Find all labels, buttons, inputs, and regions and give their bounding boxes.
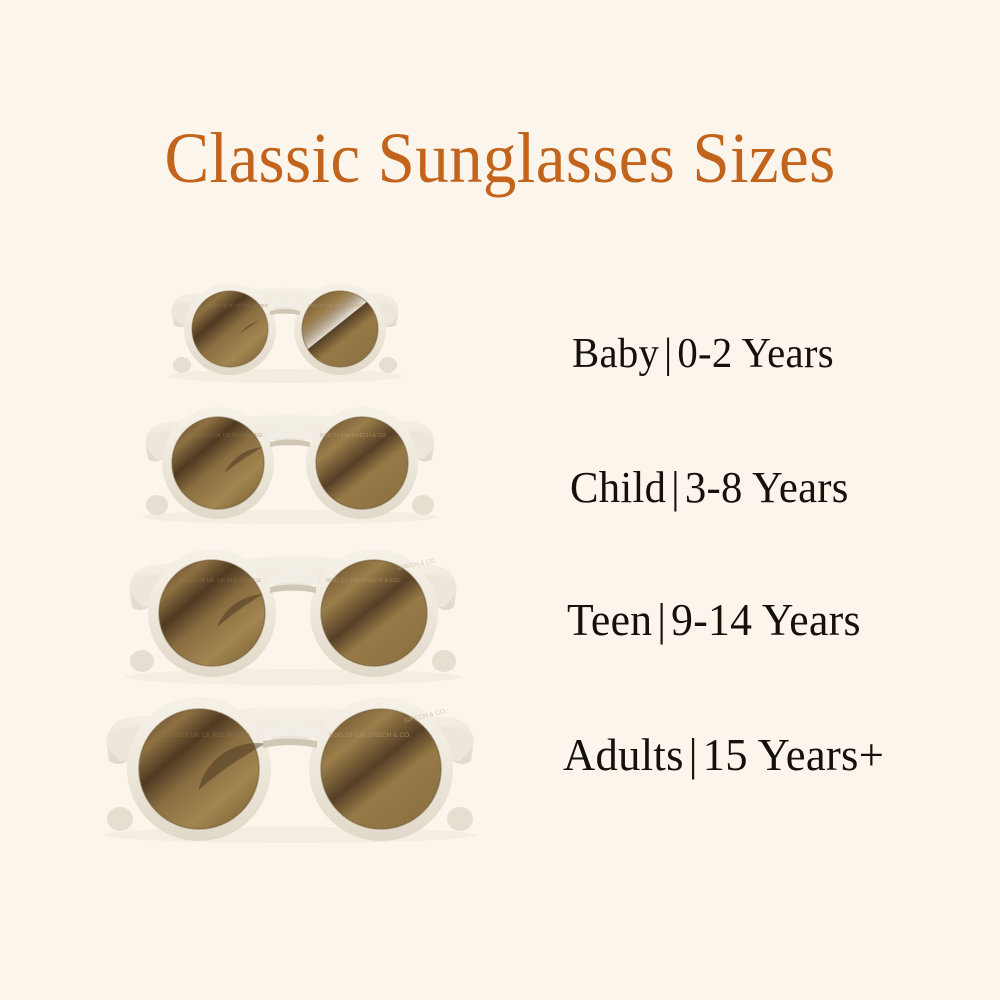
- size-separator: |: [659, 331, 677, 377]
- svg-text:GCO2178 UK CE POLARIZED: GCO2178 UK CE POLARIZED: [159, 732, 250, 739]
- sunglasses-baby: GCO2178 UK CE POLARIZED BGD 27-135 GRECH…: [158, 277, 412, 381]
- size-age-range: 0-2 Years: [677, 331, 834, 377]
- size-name: Baby: [572, 331, 659, 377]
- size-name: Adults: [563, 729, 684, 780]
- size-label-teen: Teen|9-14 Years: [567, 594, 861, 646]
- size-label-adults: Adults|15 Years+: [563, 728, 884, 781]
- size-age-range: 3-8 Years: [685, 463, 849, 512]
- sunglasses-teen: GCO2178 UK CE POLARIZED BGD 27-135 GRECH…: [112, 543, 474, 685]
- sunglasses-child: GCO2178 UK CE POLARIZED BGD 27-135 GRECH…: [130, 403, 450, 523]
- svg-text:BGD 27-135 GRECH & CO.: BGD 27-135 GRECH & CO.: [320, 433, 387, 439]
- size-age-range: 15 Years+: [703, 729, 884, 780]
- svg-text:GCO2178 UK CE POLARIZED: GCO2178 UK CE POLARIZED: [178, 578, 261, 584]
- sunglasses-adults: GCO2178 UK CE POLARIZED BGD 27-135 GRECH…: [89, 695, 491, 843]
- size-label-baby: Baby|0-2 Years: [572, 330, 834, 378]
- size-age-range: 9-14 Years: [671, 595, 861, 645]
- sunglasses-size-guide-poster: Classic Sunglasses Sizes: [0, 0, 1000, 1000]
- size-separator: |: [652, 595, 671, 645]
- size-separator: |: [684, 729, 703, 780]
- size-name: Child: [570, 463, 666, 512]
- size-name: Teen: [567, 595, 652, 645]
- svg-text:BGD 27-135 GRECH & CO.: BGD 27-135 GRECH & CO.: [326, 578, 401, 584]
- svg-text:GCO2178 UK CE POLARIZED: GCO2178 UK CE POLARIZED: [206, 303, 269, 308]
- size-separator: |: [666, 463, 685, 512]
- size-label-child: Child|3-8 Years: [570, 462, 849, 513]
- svg-text:BGD 27-135 GRECH & CO.: BGD 27-135 GRECH & CO.: [329, 732, 411, 739]
- svg-text:BGD 27-135 GRECH & CO.: BGD 27-135 GRECH & CO.: [308, 303, 364, 308]
- svg-text:GCO2178 UK CE POLARIZED: GCO2178 UK CE POLARIZED: [188, 433, 262, 439]
- page-title: Classic Sunglasses Sizes: [35, 116, 965, 200]
